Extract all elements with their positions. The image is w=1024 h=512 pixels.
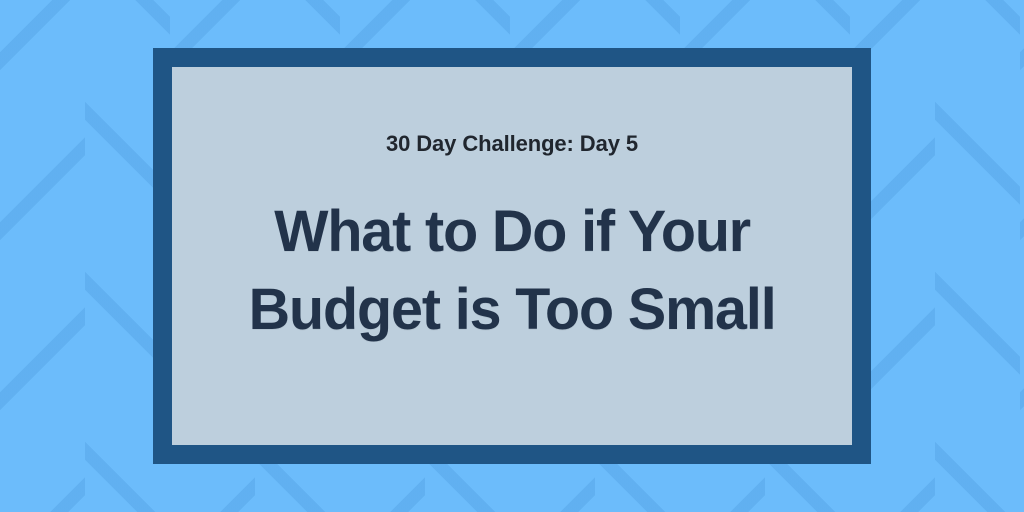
title-card-panel: 30 Day Challenge: Day 5 What to Do if Yo…	[172, 67, 852, 445]
headline-line-2: Budget is Too Small	[249, 271, 776, 349]
chevron-stroke	[935, 0, 1020, 512]
title-card-frame: 30 Day Challenge: Day 5 What to Do if Yo…	[153, 48, 871, 464]
chevron-column	[935, 0, 1020, 512]
chevron-column	[1020, 0, 1024, 512]
chevron-stroke	[1020, 0, 1024, 512]
chevron-column	[0, 0, 85, 512]
headline: What to Do if Your Budget is Too Small	[239, 193, 786, 349]
graphic-canvas: 30 Day Challenge: Day 5 What to Do if Yo…	[0, 0, 1024, 512]
eyebrow-text: 30 Day Challenge: Day 5	[386, 133, 638, 155]
headline-line-1: What to Do if Your	[249, 193, 776, 271]
chevron-stroke	[0, 0, 85, 512]
